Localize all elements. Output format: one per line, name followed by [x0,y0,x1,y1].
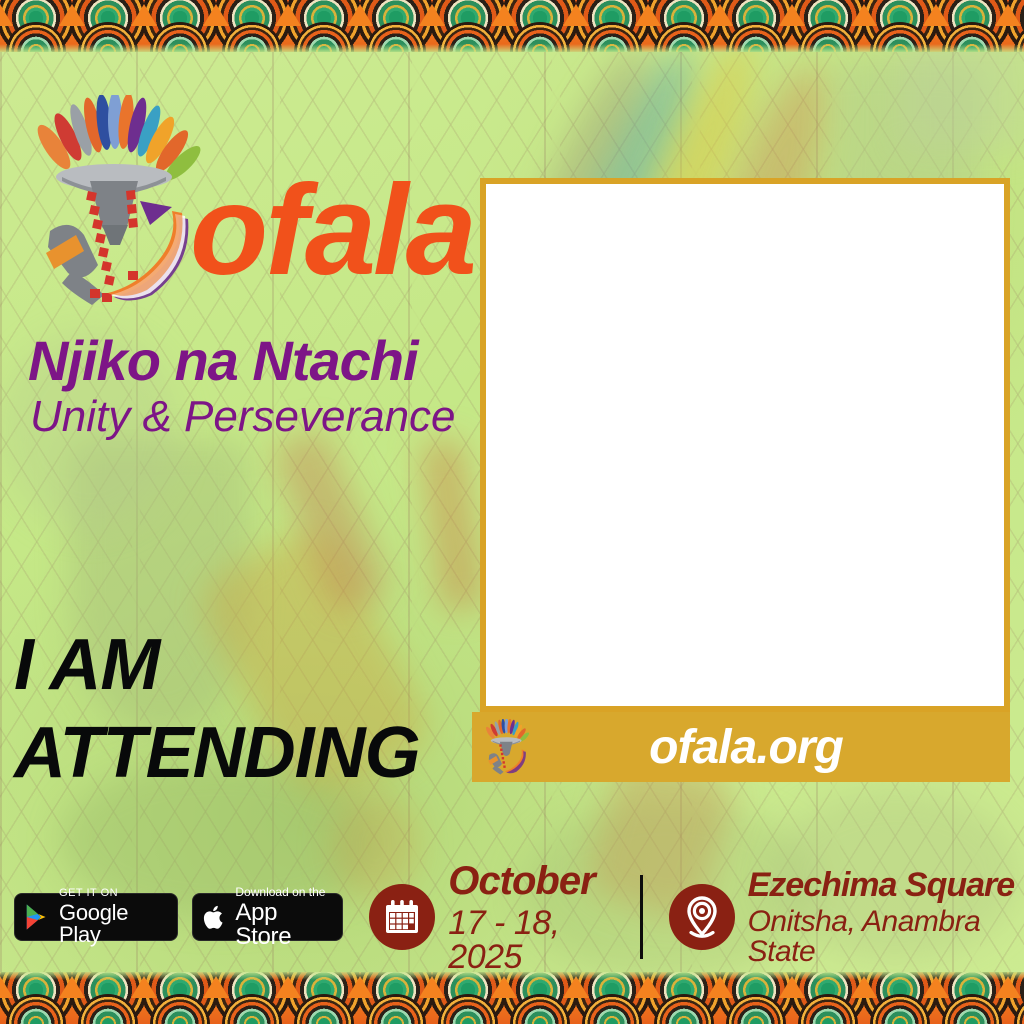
location-pin-icon-circle [669,884,735,950]
google-play-big-label: Google Play [59,902,163,946]
ankara-triangle [635,4,648,26]
venue-name: Ezechima Square [748,868,1024,902]
calendar-icon [382,897,422,937]
ankara-triangle [419,4,432,26]
photo-placeholder[interactable] [480,178,1010,712]
ankara-triangle [0,4,13,26]
ankara-triangle [1008,4,1021,26]
event-venue-group: Ezechima Square Onitsha, Anambra State [643,868,1024,967]
ankara-triangle [864,4,877,26]
google-play-small-label: GET IT ON [59,888,163,899]
ankara-fade-top [0,44,1024,52]
ofala-attendance-frame-card: ofala Njiko na Ntachi Unity & Perseveran… [0,0,1024,1024]
ankara-triangle [275,4,288,26]
ankara-border-bottom [0,972,1024,1024]
google-play-icon [25,902,50,932]
ankara-triangle [792,4,805,26]
website-url[interactable]: ofala.org [542,720,1010,775]
ankara-triangle [923,4,936,26]
attending-statement: I AM ATTENDING [14,622,474,798]
attending-line-2: ATTENDING [14,710,474,798]
apple-icon [203,902,226,933]
calendar-icon-circle [369,884,435,950]
ankara-triangle [563,4,576,26]
brand-wordmark: ofala [190,167,474,295]
ankara-triangle [72,4,85,26]
app-store-small-label: Download on the [235,886,328,898]
event-venue-text: Ezechima Square Onitsha, Anambra State [748,868,1024,967]
photo-frame: ofala.org [472,178,1010,782]
ankara-triangle [347,4,360,26]
ofala-mini-logo [472,719,542,775]
ankara-triangle [216,4,229,26]
ofala-masquerade-logo-icon [32,95,202,307]
ankara-triangle [504,4,517,26]
ankara-triangle [779,4,792,26]
ankara-triangle [576,4,589,26]
url-bar: ofala.org [472,712,1010,782]
ankara-triangle [288,4,301,26]
ankara-fade-bottom [0,972,1024,980]
attending-line-1: I AM [14,622,474,710]
app-store-big-label: App Store [235,901,328,949]
ankara-triangle [144,4,157,26]
ankara-triangle [432,4,445,26]
ankara-triangle [995,4,1008,26]
ankara-triangle [131,4,144,26]
event-days: 17 - 18, 2025 [448,906,620,974]
ankara-triangle [491,4,504,26]
location-pin-icon [680,894,724,940]
event-month: October [448,861,620,901]
event-date-group: October 17 - 18, 2025 [343,861,620,974]
ankara-triangle [851,4,864,26]
ofala-masquerade-mini-icon [483,719,531,775]
ankara-triangle [707,4,720,26]
google-play-badge[interactable]: GET IT ON Google Play [14,893,178,941]
ankara-triangle [360,4,373,26]
store-badges: GET IT ON Google Play Download on the Ap… [0,893,343,941]
brand-tagline: Njiko na Ntachi [28,333,418,389]
ankara-triangle [648,4,661,26]
bottom-info-bar: GET IT ON Google Play Download on the Ap… [0,862,1024,972]
brand-logo-block: ofala Njiko na Ntachi Unity & Perseveran… [18,95,488,305]
app-store-badge[interactable]: Download on the App Store [192,893,343,941]
ankara-border-top [0,0,1024,52]
venue-location: Onitsha, Anambra State [748,907,1024,967]
ankara-triangle [203,4,216,26]
ankara-triangle [59,4,72,26]
brand-subtagline: Unity & Perseverance [30,395,456,439]
logo-row: ofala [18,95,488,305]
ankara-triangle [936,4,949,26]
event-date-text: October 17 - 18, 2025 [448,861,620,974]
google-play-text: GET IT ON Google Play [59,888,163,946]
ankara-triangle [720,4,733,26]
app-store-text: Download on the App Store [235,886,328,949]
